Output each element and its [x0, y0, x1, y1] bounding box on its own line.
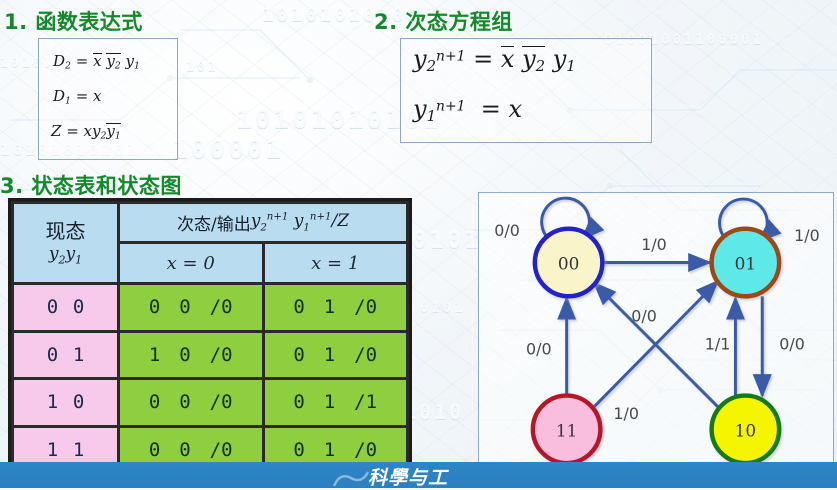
col-header-x0: x = 0 [120, 244, 262, 282]
bit: 0 [179, 344, 190, 366]
col-header-x1: x = 1 [265, 244, 407, 282]
state-diagram: 00 01 11 10 0/0 1/0 1/0 0/0 1/0 0/0 1/1 … [478, 192, 834, 478]
table-row: 0 1 1 0 /0 0 1 /0 [14, 333, 406, 378]
edge-label-11-00: 0/0 [526, 339, 552, 358]
formula-d2: D2 = x y2 y1 [53, 52, 140, 72]
formula-y2-next: y2n+1 = x y2 y1 [413, 45, 576, 75]
bit: 1 [47, 439, 58, 461]
next-state-equations-box: y2n+1 = x y2 y1 y1n+1 = x [400, 38, 652, 143]
bit: 1 [324, 344, 335, 366]
bit: 1 [73, 439, 84, 461]
bit: 1 [324, 296, 335, 318]
banner-logo-icon [330, 468, 372, 488]
output: /0 [210, 344, 233, 366]
output: /0 [210, 296, 233, 318]
section-heading-3: 3. 状态表和状态图 [0, 170, 182, 200]
edge-11-to-01 [590, 281, 717, 410]
bit: 0 [47, 296, 58, 318]
cell-next-x1: 0 1 /0 [265, 285, 407, 330]
cell-next-x1: 0 1 /0 [265, 333, 407, 378]
bit: 1 [73, 344, 84, 366]
output: /0 [354, 344, 377, 366]
output: /0 [354, 296, 377, 318]
bit: 1 [47, 391, 58, 413]
next-output-label: 次态/输出y2n+1 y1n+1/Z [120, 204, 406, 241]
bit: 1 [149, 344, 160, 366]
table-row: 0 0 0 0 /0 0 1 /0 [14, 285, 406, 330]
cell-current-state: 0 1 [14, 333, 117, 378]
table-header-next-output: 次态/输出y2n+1 y1n+1/Z x = 0 x = 1 [120, 204, 406, 282]
table-header-input-cols: x = 0 x = 1 [120, 244, 406, 282]
bit: 0 [73, 391, 84, 413]
output: /0 [210, 391, 233, 413]
bit: 0 [73, 296, 84, 318]
bit: 0 [293, 391, 304, 413]
next-output-text: 次态/输出 [177, 210, 251, 235]
bit: 0 [149, 391, 160, 413]
bit: 0 [179, 439, 190, 461]
state-table: 现态 y2y1 次态/输出y2n+1 y1n+1/Z x = 0 x = 1 0… [8, 198, 412, 478]
output: /0 [210, 439, 233, 461]
table-row: 1 0 0 0 /0 0 1 /1 [14, 380, 406, 425]
cell-next-x0: 0 0 /0 [120, 285, 262, 330]
function-expression-box: D2 = x y2 y1 D1 = x Z = xy2y1 [38, 38, 178, 160]
cell-current-state: 0 0 [14, 285, 117, 330]
state-node-label-11: 11 [556, 420, 577, 440]
edge-label-11-01: 1/0 [613, 404, 639, 423]
output: /0 [354, 439, 377, 461]
cell-next-x0: 0 0 /0 [120, 380, 262, 425]
bit: 0 [179, 296, 190, 318]
edge-label-01-01: 1/0 [794, 226, 820, 245]
banner-watermark-text: 科學与工 [368, 463, 448, 487]
state-node-label-01: 01 [735, 254, 756, 274]
cell-next-x1: 0 1 /1 [265, 380, 407, 425]
bit: 0 [293, 344, 304, 366]
bit: 1 [324, 439, 335, 461]
formula-z: Z = xy2y1 [51, 122, 121, 142]
current-state-label: 现态 [46, 220, 86, 242]
bit: 0 [47, 344, 58, 366]
cell-current-state: 1 0 [14, 380, 117, 425]
table-header-row: 现态 y2y1 次态/输出y2n+1 y1n+1/Z x = 0 x = 1 [14, 204, 406, 282]
next-output-expr: y2n+1 y1n+1/Z [251, 211, 349, 233]
output: /1 [354, 391, 377, 413]
edge-label-10-01: 1/1 [705, 334, 731, 353]
table-header-current-state: 现态 y2y1 [14, 204, 117, 282]
bit: 0 [149, 439, 160, 461]
edge-label-10-00: 0/0 [631, 307, 657, 326]
bit: 0 [179, 391, 190, 413]
bit: 1 [324, 391, 335, 413]
formula-d1: D1 = x [53, 87, 102, 107]
cell-next-x0: 1 0 /0 [120, 333, 262, 378]
section-heading-1: 1. 函数表达式 [4, 6, 143, 36]
edge-label-01-10: 0/0 [779, 334, 805, 353]
section-heading-2: 2. 次态方程组 [374, 6, 513, 36]
edge-10-to-00 [594, 283, 721, 410]
formula-y1-next: y1n+1 = x [413, 95, 522, 125]
bit: 0 [293, 296, 304, 318]
bit: 0 [293, 439, 304, 461]
edge-label-00-00: 0/0 [494, 221, 520, 240]
state-node-label-00: 00 [558, 254, 579, 274]
edge-label-00-01: 1/0 [641, 235, 667, 254]
state-diagram-svg: 00 01 11 10 0/0 1/0 1/0 0/0 1/0 0/0 1/1 … [479, 193, 833, 477]
current-state-vars: y2y1 [49, 244, 82, 266]
state-node-label-10: 10 [735, 420, 756, 440]
bit: 0 [149, 296, 160, 318]
